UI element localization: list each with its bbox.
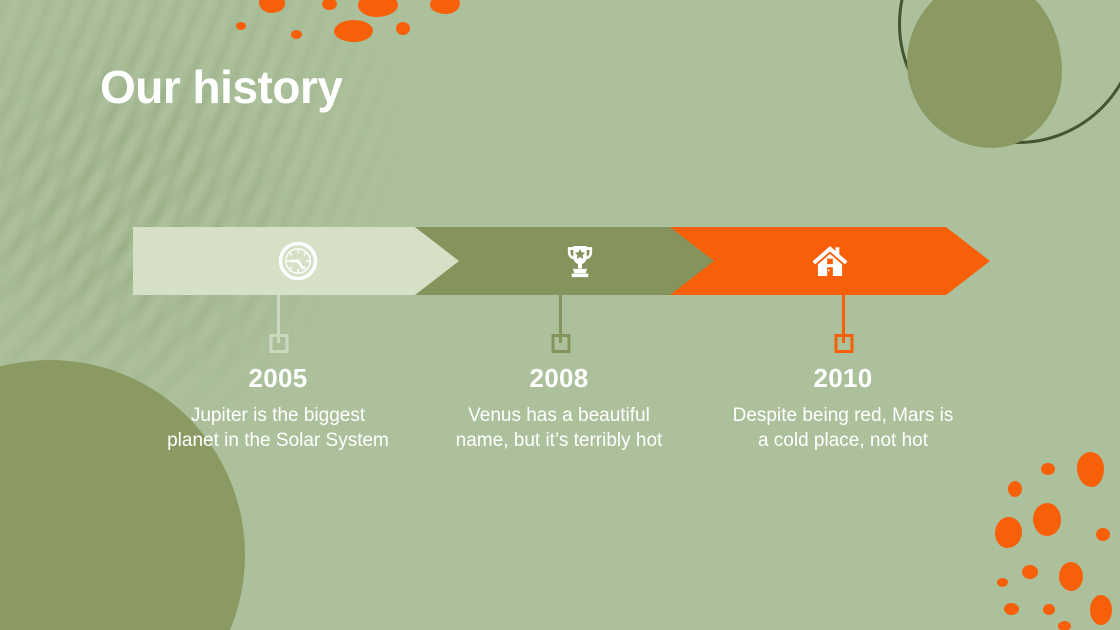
- clock-icon: [278, 241, 318, 281]
- timeline: 2005 Jupiter is the biggest planet in th…: [0, 0, 1120, 630]
- timeline-year: 2005: [167, 363, 389, 394]
- timeline-item-2008: 2008 Venus has a beautiful name, but it’…: [448, 363, 670, 453]
- timeline-item-2010: 2010 Despite being red, Mars is a cold p…: [728, 363, 958, 453]
- timeline-year: 2010: [728, 363, 958, 394]
- timeline-arrow-2010[interactable]: [670, 227, 990, 295]
- trophy-icon: [560, 241, 600, 281]
- timeline-connector-2008: [559, 295, 562, 343]
- timeline-item-2005: 2005 Jupiter is the biggest planet in th…: [167, 363, 389, 453]
- timeline-year: 2008: [448, 363, 670, 394]
- house-icon: [810, 241, 850, 281]
- timeline-description: Despite being red, Mars is a cold place,…: [728, 403, 958, 453]
- slide-canvas: Our history: [0, 0, 1120, 630]
- timeline-description: Venus has a beautiful name, but it’s ter…: [448, 403, 670, 453]
- timeline-connector-2005: [277, 295, 280, 343]
- timeline-arrow-2005[interactable]: [133, 227, 463, 295]
- timeline-description: Jupiter is the biggest planet in the Sol…: [167, 403, 389, 453]
- timeline-connector-2010: [842, 295, 845, 343]
